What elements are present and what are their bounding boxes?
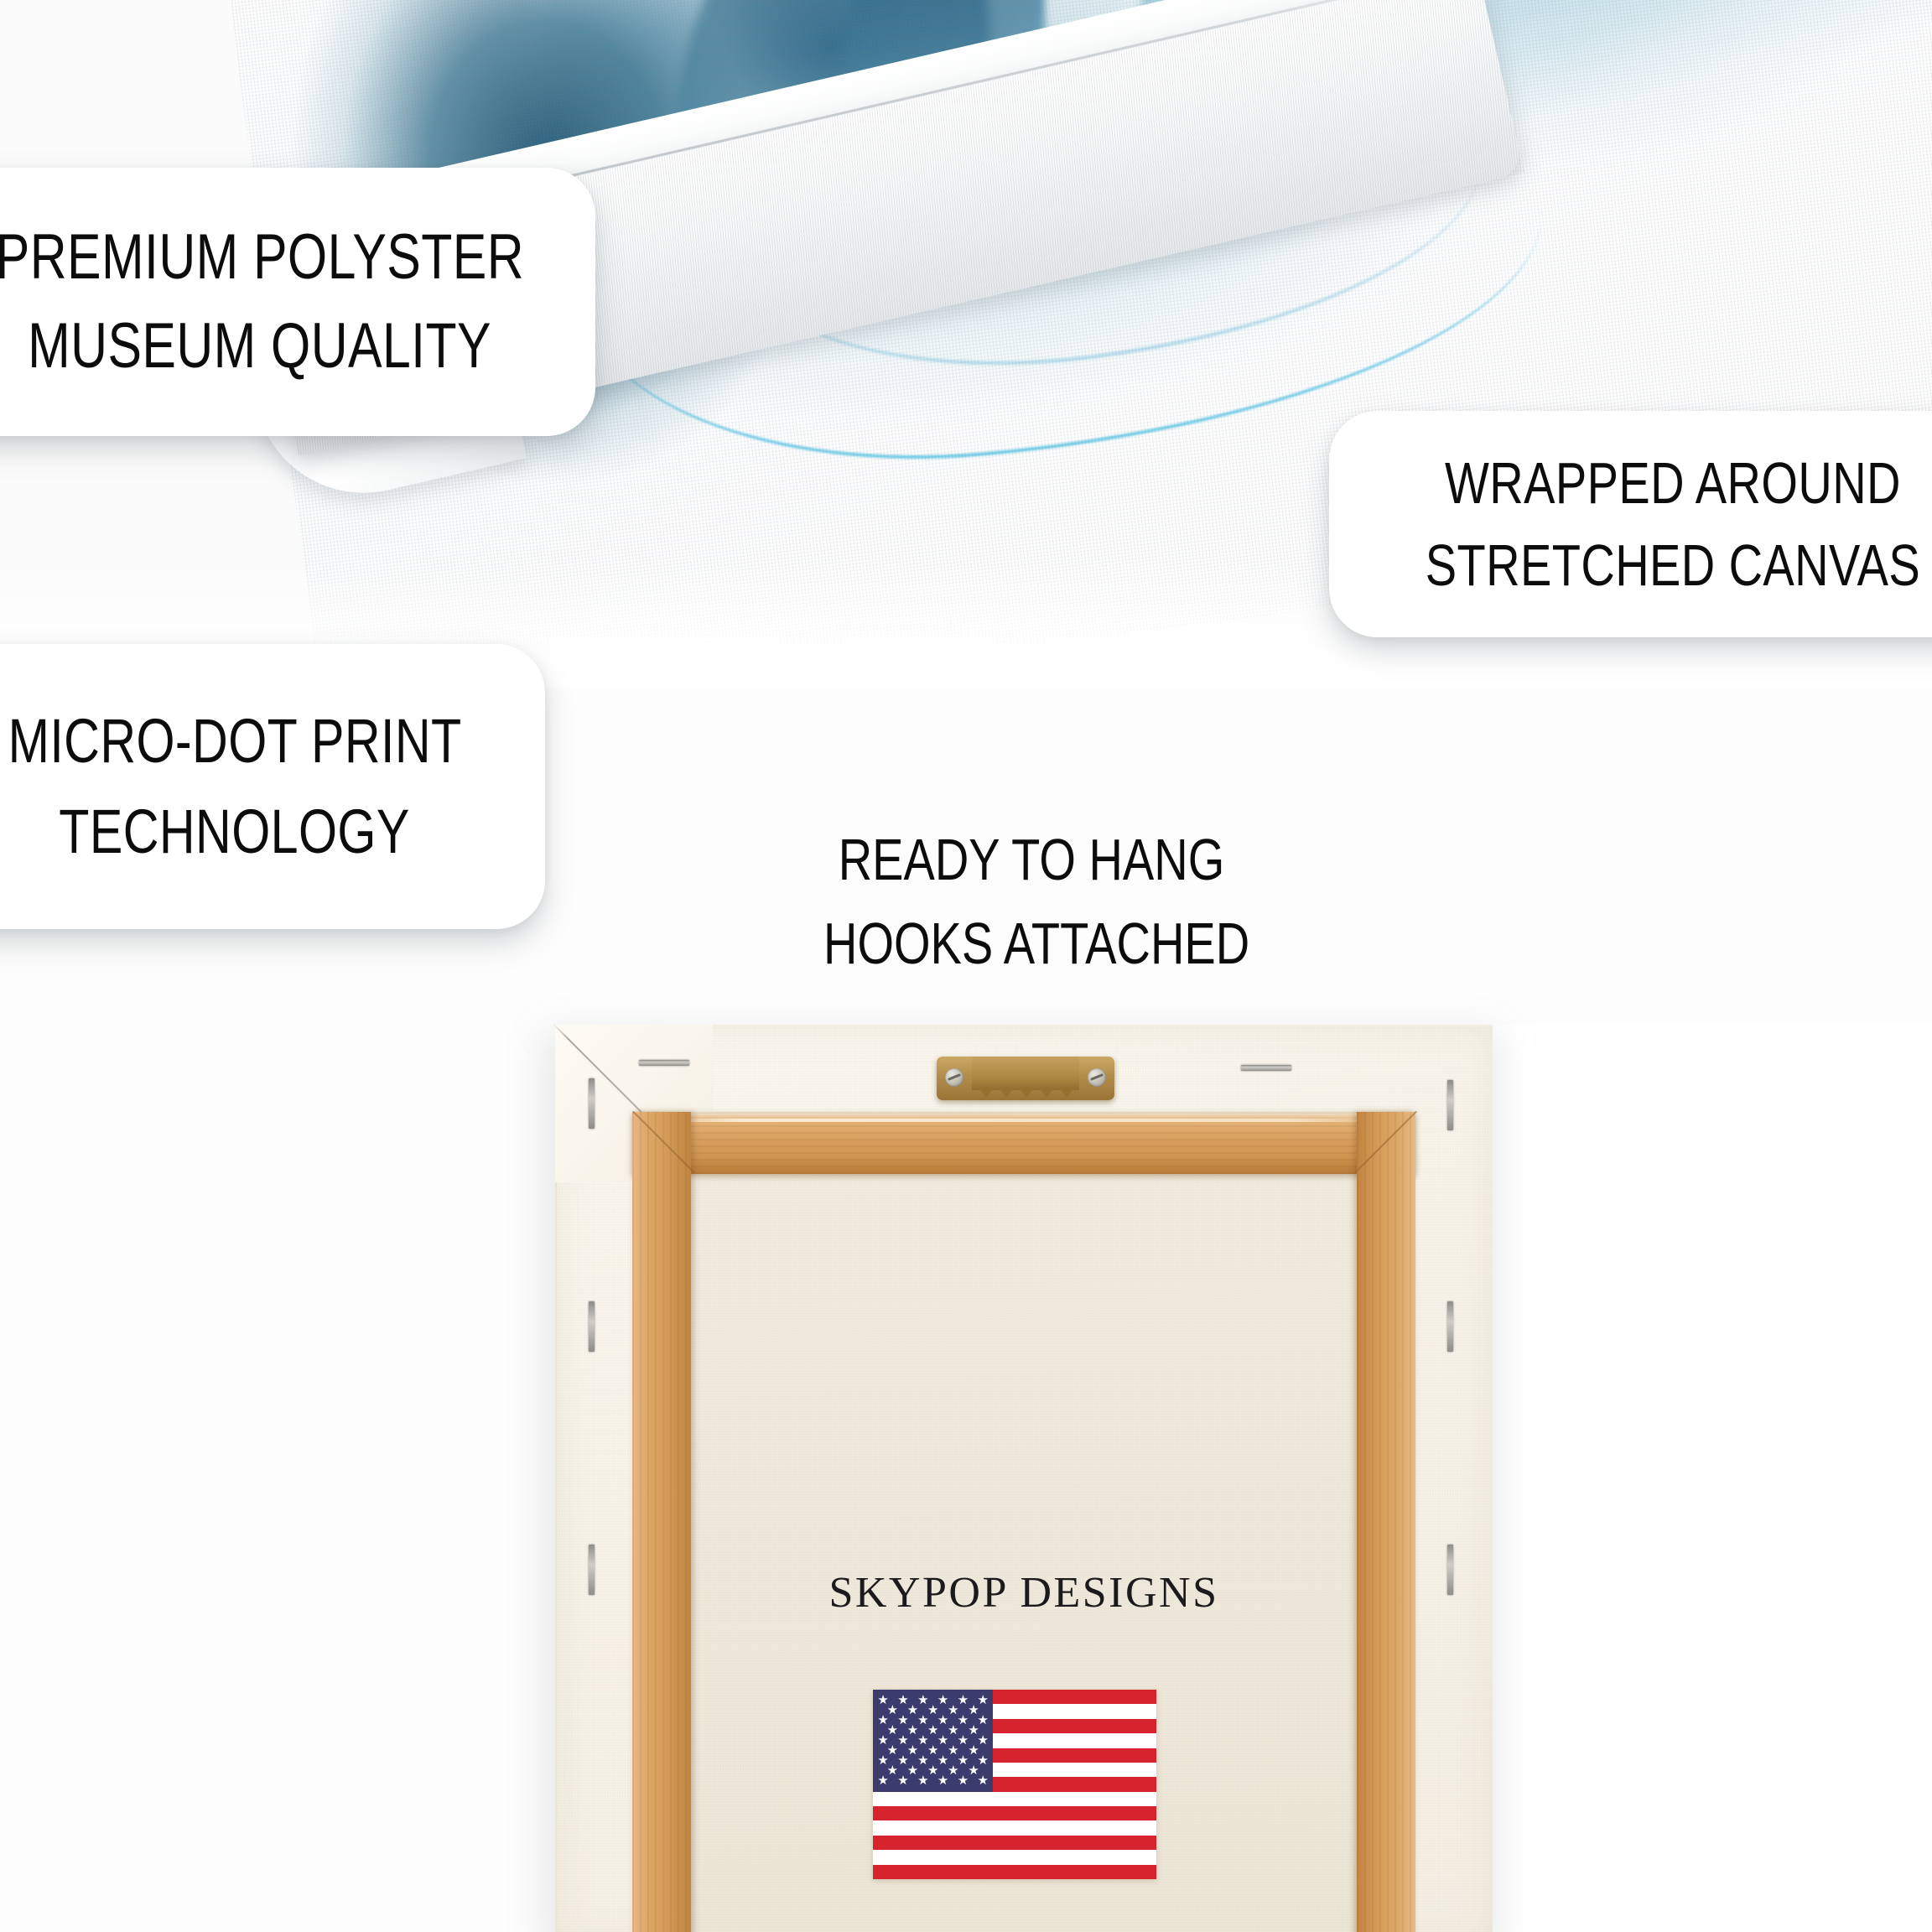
- hanger-tooth: [979, 1088, 994, 1098]
- background-right: [1493, 1025, 1932, 1932]
- hanger-screw: [945, 1068, 963, 1087]
- feature-line: READY TO HANG: [823, 818, 1239, 901]
- staple: [589, 1078, 595, 1129]
- feature-badge-premium-polyster: PREMIUM POLYSTER MUSEUM QUALITY: [0, 168, 595, 436]
- american-flag-icon: ★★★ ★★★ ★★★ ★★ ★★★ ★★★ ★★★ ★★ ★★★ ★★★ ★★…: [873, 1690, 1156, 1879]
- hanger-tooth: [1019, 1088, 1034, 1098]
- staple: [639, 1060, 689, 1066]
- stretcher-bar-left: [632, 1112, 691, 1932]
- feature-caption-ready-to-hang: READY TO HANG HOOKS ATTACHED: [771, 818, 1291, 985]
- feature-line: MICRO-DOT PRINT: [8, 696, 462, 787]
- wood-grain: [632, 1112, 1415, 1174]
- hanger-screw: [1088, 1068, 1106, 1087]
- feature-line: PREMIUM POLYSTER: [0, 213, 524, 302]
- feature-line: TECHNOLOGY: [60, 787, 410, 877]
- sawtooth-hanger: [937, 1057, 1114, 1100]
- wood-grain: [632, 1112, 691, 1932]
- hanger-sawtooth-body: [972, 1057, 1079, 1090]
- feature-badge-wrapped-around-stretched-canvas: WRAPPED AROUND STRETCHED CANVAS: [1329, 411, 1932, 637]
- infographic-canvas: PREMIUM POLYSTER MUSEUM QUALITY WRAPPED …: [0, 0, 1932, 1932]
- brand-name: SKYPOP DESIGNS: [555, 1568, 1493, 1618]
- feature-badge-micro-dot-print-technology: MICRO-DOT PRINT TECHNOLOGY: [0, 644, 545, 929]
- feature-line: MUSEUM QUALITY: [29, 302, 492, 391]
- hanger-tooth: [1059, 1088, 1074, 1098]
- feature-line: HOOKS ATTACHED: [823, 901, 1239, 985]
- wood-grain: [1357, 1112, 1415, 1932]
- canvas-back-photo: SKYPOP DESIGNS ★★★ ★★★ ★★★ ★★ ★★★ ★★★: [555, 1025, 1493, 1932]
- hanger-tooth: [999, 1088, 1014, 1098]
- feature-line: WRAPPED AROUND: [1445, 442, 1901, 524]
- staple: [1447, 1301, 1453, 1352]
- staple: [1447, 1080, 1453, 1130]
- feature-line: STRETCHED CANVAS: [1426, 524, 1920, 606]
- stretcher-bar-top: [632, 1112, 1415, 1174]
- staple: [589, 1301, 595, 1352]
- hanger-tooth: [1039, 1088, 1054, 1098]
- staple: [1241, 1065, 1291, 1071]
- stretcher-bar-right: [1357, 1112, 1415, 1932]
